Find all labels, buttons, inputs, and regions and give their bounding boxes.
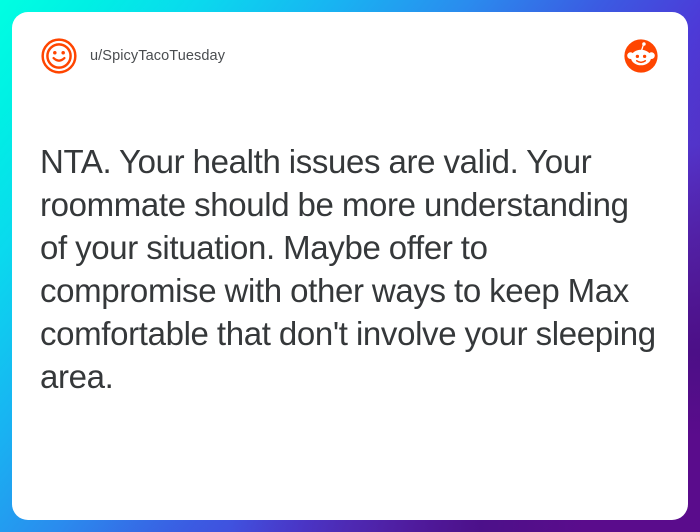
comment-text: NTA. Your health issues are valid. Your … — [40, 140, 662, 398]
reddit-comment-card: u/SpicyTacoTuesday — [12, 12, 688, 520]
username-label: u/SpicyTacoTuesday — [90, 48, 225, 64]
reddit-snoo-icon — [622, 37, 660, 75]
card-header: u/SpicyTacoTuesday — [12, 12, 688, 100]
smiley-face-avatar-icon — [40, 37, 78, 75]
gradient-backdrop: u/SpicyTacoTuesday — [0, 0, 700, 532]
card-body: NTA. Your health issues are valid. Your … — [12, 140, 688, 398]
